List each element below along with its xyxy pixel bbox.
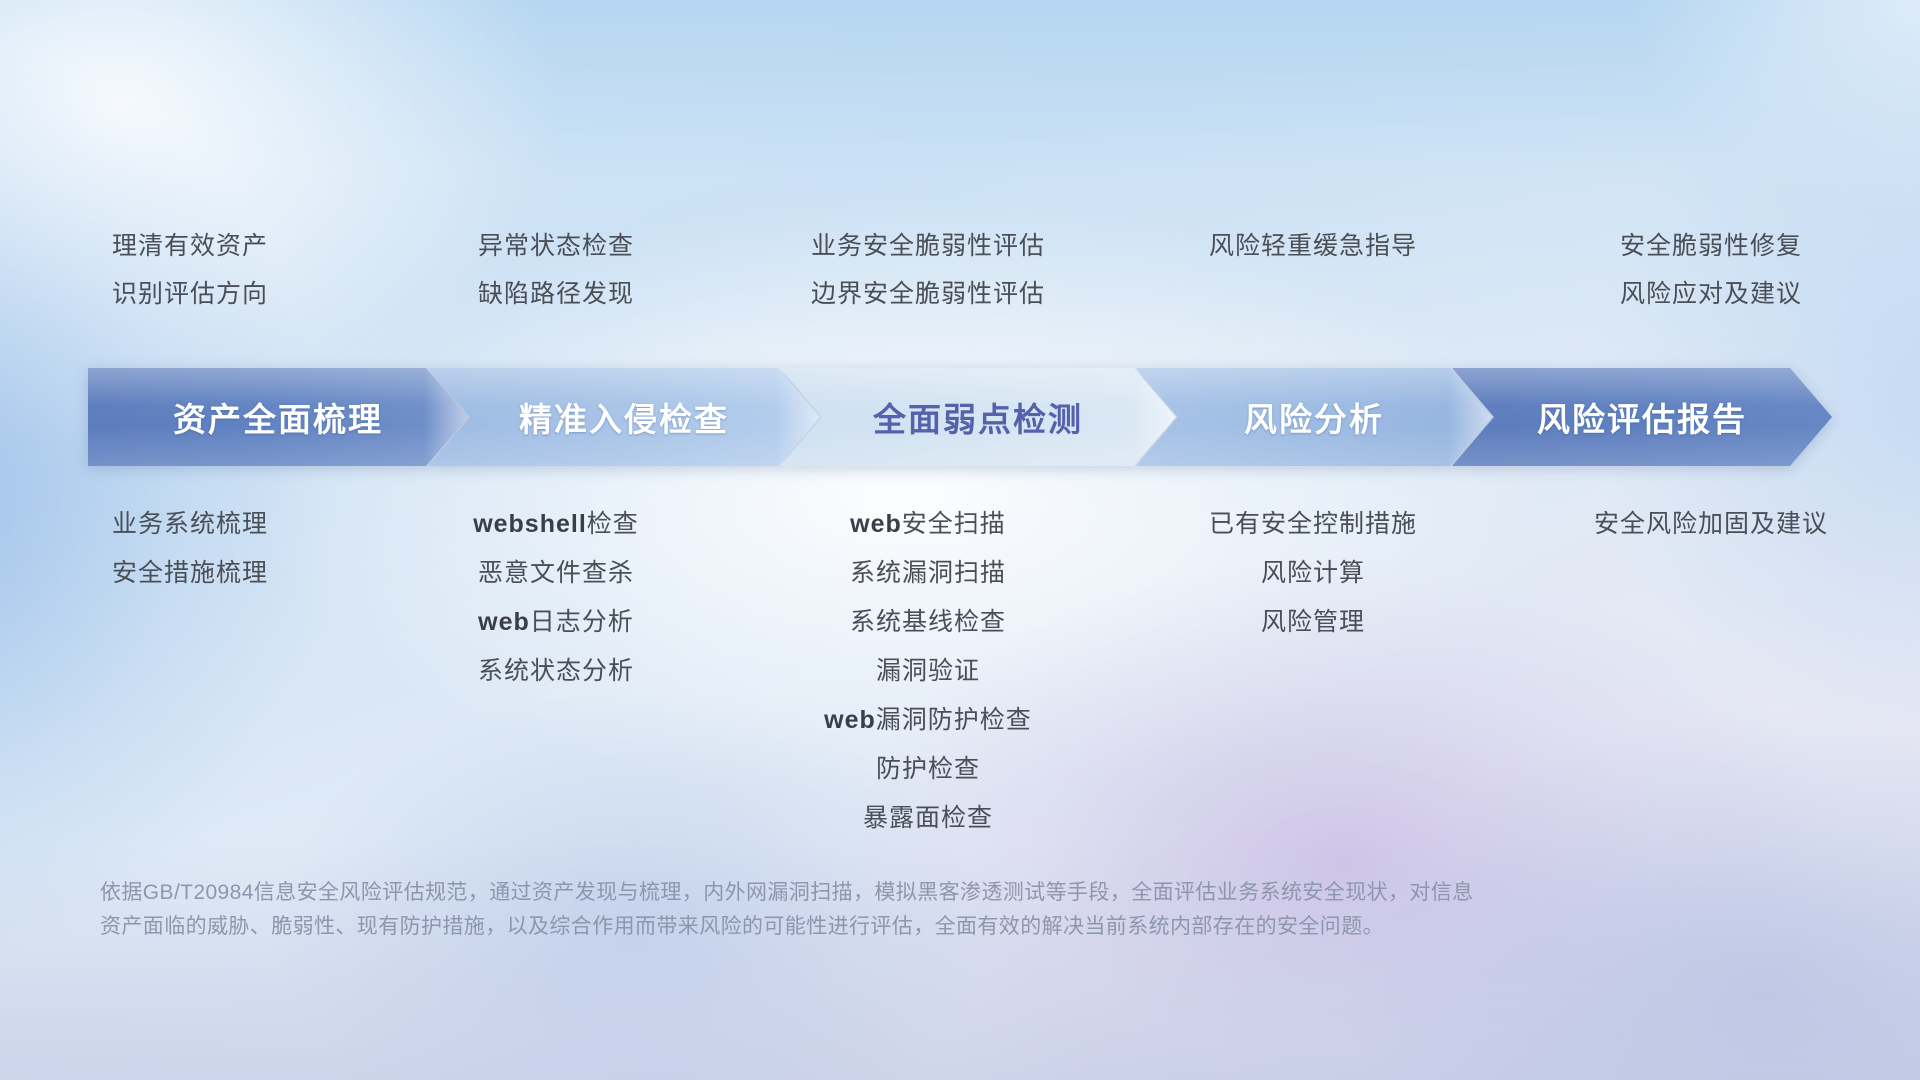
bottom-item-text: 日志分析	[530, 608, 634, 636]
bottom-column-asset-inventory: 业务系统梳理安全措施梳理	[0, 500, 380, 598]
bottom-item-text: 系统基线检查	[850, 608, 1006, 636]
chevron-stage-4-label: 风险分析	[1244, 393, 1384, 441]
bottom-descriptor-row: 业务系统梳理安全措施梳理 webshell检查恶意文件查杀web日志分析系统状态…	[0, 500, 1920, 843]
bottom-column-intrusion-check: webshell检查恶意文件查杀web日志分析系统状态分析	[380, 500, 732, 696]
top-item: 异常状态检查	[478, 222, 634, 270]
bottom-item-text: 安全措施梳理	[112, 559, 268, 587]
top-item: 理清有效资产	[112, 222, 268, 270]
top-item: 风险轻重缓急指导	[1209, 222, 1417, 270]
bottom-item-keyword: web	[478, 608, 530, 636]
top-item: 识别评估方向	[112, 270, 268, 318]
top-item: 安全脆弱性修复	[1620, 222, 1802, 270]
bottom-item-text: 漏洞验证	[876, 657, 980, 685]
top-column-risk-report: 安全脆弱性修复风险应对及建议	[1502, 222, 1920, 352]
top-column-intrusion-check: 异常状态检查缺陷路径发现	[380, 222, 732, 352]
slide-canvas: 理清有效资产识别评估方向 异常状态检查缺陷路径发现 业务安全脆弱性评估边界安全脆…	[0, 0, 1920, 1080]
top-column-weakness-detection: 业务安全脆弱性评估边界安全脆弱性评估	[732, 222, 1124, 352]
bottom-item-keyword: web	[850, 510, 902, 538]
top-item: 业务安全脆弱性评估	[811, 222, 1045, 270]
bottom-item: 风险管理	[1261, 598, 1365, 647]
bottom-item: 系统基线检查	[850, 598, 1006, 647]
chevron-stage-5[interactable]: 风险评估报告	[1452, 368, 1832, 466]
chevron-stage-5-label: 风险评估报告	[1537, 393, 1747, 441]
chevron-stage-2[interactable]: 精准入侵检查	[428, 368, 820, 466]
bottom-item: 恶意文件查杀	[478, 549, 634, 598]
bottom-item-text: 漏洞防护检查	[876, 706, 1032, 734]
bottom-column-weakness-detection: web安全扫描系统漏洞扫描系统基线检查漏洞验证web漏洞防护检查防护检查暴露面检…	[732, 500, 1124, 843]
bottom-item: 安全措施梳理	[112, 549, 268, 598]
bottom-item: 系统状态分析	[478, 647, 634, 696]
bottom-item: webshell检查	[473, 500, 639, 549]
bottom-item-text: 检查	[587, 510, 639, 538]
bottom-column-risk-report: 安全风险加固及建议	[1502, 500, 1920, 549]
top-item: 边界安全脆弱性评估	[811, 270, 1045, 318]
bottom-item: 已有安全控制措施	[1209, 500, 1417, 549]
top-column-asset-inventory: 理清有效资产识别评估方向	[0, 222, 380, 352]
bottom-item-keyword: web	[824, 706, 876, 734]
top-item: 缺陷路径发现	[478, 270, 634, 318]
bottom-item-text: 风险计算	[1261, 559, 1365, 587]
bottom-item: 安全风险加固及建议	[1594, 500, 1828, 549]
bottom-item-keyword: webshell	[473, 510, 587, 538]
bottom-item-text: 系统状态分析	[478, 657, 634, 685]
bottom-item: web安全扫描	[850, 500, 1006, 549]
bottom-column-risk-analysis: 已有安全控制措施风险计算风险管理	[1124, 500, 1502, 647]
top-column-risk-analysis: 风险轻重缓急指导	[1124, 222, 1502, 352]
bottom-item: 暴露面检查	[863, 794, 993, 843]
bottom-item: 系统漏洞扫描	[850, 549, 1006, 598]
bottom-item: web日志分析	[478, 598, 634, 647]
bottom-item: web漏洞防护检查	[824, 696, 1032, 745]
chevron-stage-3-label: 全面弱点检测	[873, 393, 1083, 441]
footer-description: 依据GB/T20984信息安全风险评估规范，通过资产发现与梳理，内外网漏洞扫描，…	[100, 876, 1740, 944]
chevron-stage-2-label: 精准入侵检查	[519, 393, 729, 441]
bottom-item-text: 暴露面检查	[863, 804, 993, 832]
top-descriptor-row: 理清有效资产识别评估方向 异常状态检查缺陷路径发现 业务安全脆弱性评估边界安全脆…	[0, 222, 1920, 352]
chevron-stage-1-label: 资产全面梳理	[173, 393, 383, 441]
bottom-item-text: 已有安全控制措施	[1209, 510, 1417, 538]
process-chevron-ribbon: 资产全面梳理 精准入侵检查 全面弱点检测 风险分析 风险评估报告	[88, 368, 1848, 466]
footer-line-2: 资产面临的威胁、脆弱性、现有防护措施，以及综合作用而带来风险的可能性进行评估，全…	[100, 910, 1740, 944]
top-item: 风险应对及建议	[1620, 270, 1802, 318]
bottom-item-text: 系统漏洞扫描	[850, 559, 1006, 587]
bottom-item: 漏洞验证	[876, 647, 980, 696]
bottom-item: 业务系统梳理	[112, 500, 268, 549]
bottom-item: 风险计算	[1261, 549, 1365, 598]
bottom-item-text: 安全扫描	[902, 510, 1006, 538]
chevron-stage-3[interactable]: 全面弱点检测	[780, 368, 1176, 466]
bottom-item-text: 恶意文件查杀	[478, 559, 634, 587]
footer-line-1: 依据GB/T20984信息安全风险评估规范，通过资产发现与梳理，内外网漏洞扫描，…	[100, 876, 1740, 910]
bottom-item-text: 风险管理	[1261, 608, 1365, 636]
bottom-item-text: 业务系统梳理	[112, 510, 268, 538]
chevron-stage-1[interactable]: 资产全面梳理	[88, 368, 468, 466]
chevron-stage-4[interactable]: 风险分析	[1136, 368, 1492, 466]
bottom-item: 防护检查	[876, 745, 980, 794]
bottom-item-text: 防护检查	[876, 755, 980, 783]
bottom-item-text: 安全风险加固及建议	[1594, 510, 1828, 538]
